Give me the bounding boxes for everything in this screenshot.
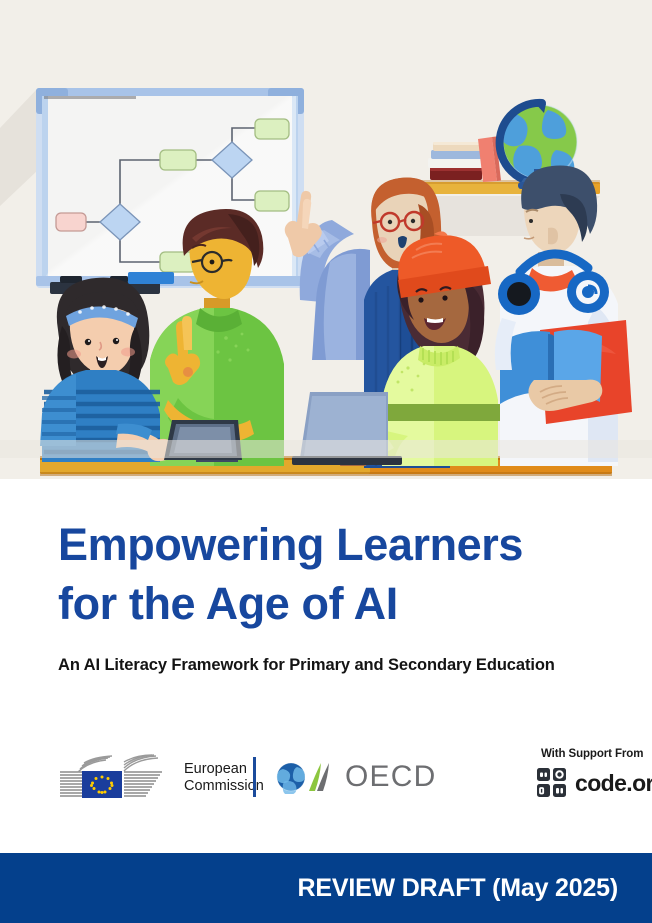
codeorg-logo: code.org xyxy=(537,768,652,798)
eu-flag-icon xyxy=(58,754,176,802)
cover-illustration xyxy=(0,0,652,479)
support-block: With Support From code. xyxy=(483,748,652,798)
classroom-scene-illustration xyxy=(0,0,652,479)
oecd-logo: OECD xyxy=(275,760,436,794)
review-draft-banner: REVIEW DRAFT (May 2025) xyxy=(0,853,652,923)
logo-divider xyxy=(253,757,256,797)
oecd-globe-icon xyxy=(275,760,341,794)
page-title: Empowering Learners for the Age of AI xyxy=(58,515,618,634)
document-cover-page: Empowering Learners for the Age of AI An… xyxy=(0,0,652,923)
european-commission-label: European Commission xyxy=(184,761,264,795)
codeorg-wordmark: code.org xyxy=(575,770,652,797)
european-commission-logo: European Commission xyxy=(58,754,264,802)
page-subtitle: An AI Literacy Framework for Primary and… xyxy=(58,656,618,675)
title-block: Empowering Learners for the Age of AI An… xyxy=(58,515,618,675)
support-label: With Support From xyxy=(541,748,652,760)
codeorg-squares-icon xyxy=(537,768,567,798)
review-draft-text: REVIEW DRAFT (May 2025) xyxy=(298,874,618,903)
book-stack xyxy=(428,137,501,183)
oecd-wordmark: OECD xyxy=(345,760,436,794)
logo-row: European Commission OECD With Support Fr… xyxy=(58,748,618,820)
